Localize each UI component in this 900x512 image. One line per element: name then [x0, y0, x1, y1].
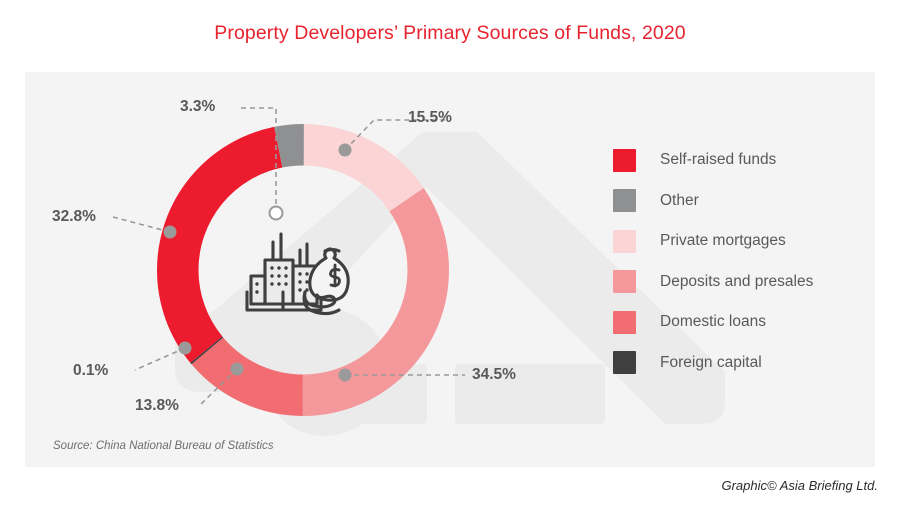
chart-legend: Self-raised funds Other Private mortgage…	[613, 140, 813, 383]
legend-swatch-other	[613, 189, 636, 212]
legend-item-deposits-and-presales[interactable]: Deposits and presales	[613, 262, 813, 303]
page-title: Property Developers’ Primary Sources of …	[0, 22, 900, 45]
data-label-deposits-and-presales: 34.5%	[472, 366, 516, 384]
legend-item-self-raised-funds[interactable]: Self-raised funds	[613, 140, 813, 181]
legend-item-domestic-loans[interactable]: Domestic loans	[613, 302, 813, 343]
legend-item-foreign-capital[interactable]: Foreign capital	[613, 343, 813, 384]
infographic-canvas: Property Developers’ Primary Sources of …	[0, 0, 900, 512]
legend-swatch-self-raised-funds	[613, 149, 636, 172]
legend-swatch-deposits-and-presales	[613, 270, 636, 293]
data-label-foreign-capital: 0.1%	[73, 362, 108, 380]
data-label-private-mortgages: 15.5%	[408, 109, 452, 127]
chart-panel: 3.3% 15.5% 32.8% 0.1% 13.8% 34.5% Self-r…	[25, 72, 875, 467]
legend-label-domestic-loans: Domestic loans	[660, 313, 766, 331]
legend-swatch-private-mortgages	[613, 230, 636, 253]
graphic-credit: Graphic© Asia Briefing Ltd.	[721, 478, 878, 493]
buildings-and-money-bag-icon	[243, 220, 363, 320]
legend-label-foreign-capital: Foreign capital	[660, 354, 762, 372]
legend-item-private-mortgages[interactable]: Private mortgages	[613, 221, 813, 262]
data-label-self-raised-funds: 32.8%	[52, 208, 96, 226]
legend-label-private-mortgages: Private mortgages	[660, 232, 786, 250]
legend-label-self-raised-funds: Self-raised funds	[660, 151, 776, 169]
legend-item-other[interactable]: Other	[613, 181, 813, 222]
legend-label-deposits-and-presales: Deposits and presales	[660, 273, 813, 291]
donut-chart	[143, 110, 463, 430]
legend-swatch-foreign-capital	[613, 351, 636, 374]
data-label-other: 3.3%	[180, 98, 215, 116]
data-label-domestic-loans: 13.8%	[135, 397, 179, 415]
source-note: Source: China National Bureau of Statist…	[53, 440, 274, 452]
legend-swatch-domestic-loans	[613, 311, 636, 334]
legend-label-other: Other	[660, 192, 699, 210]
